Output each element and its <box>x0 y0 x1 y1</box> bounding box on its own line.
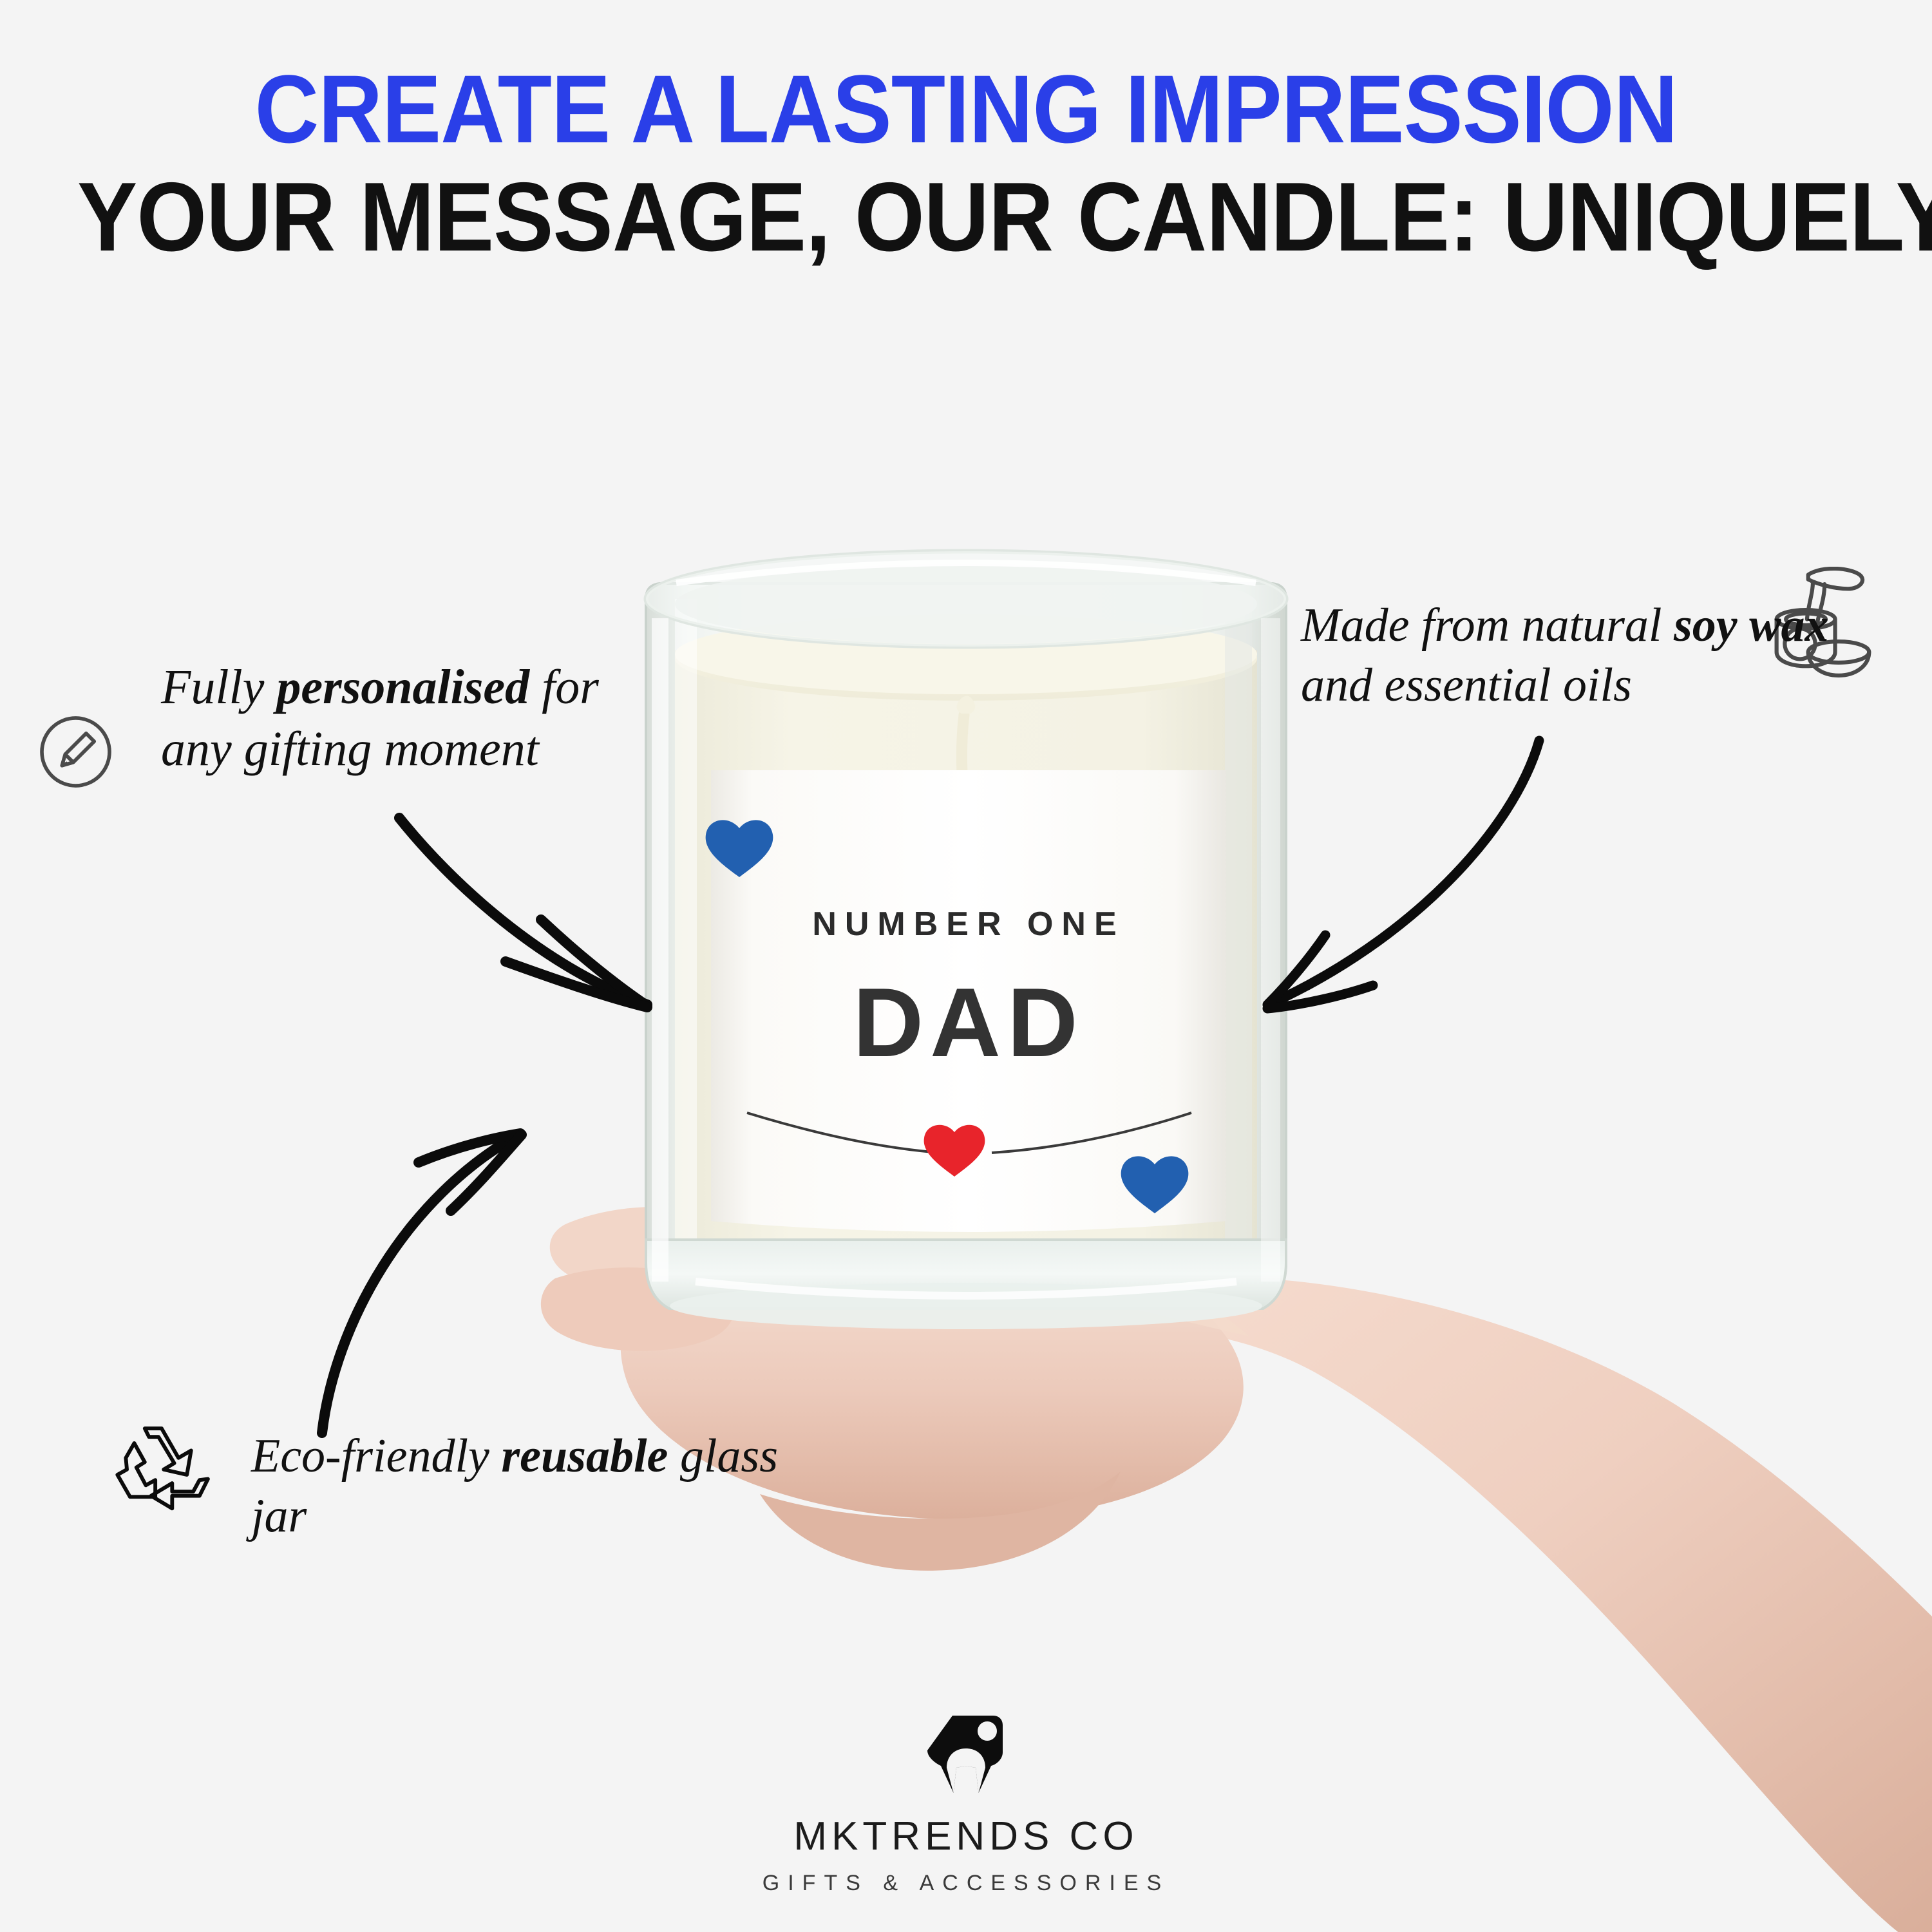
callout-personalised-lead: Fully <box>161 660 276 714</box>
poster-canvas: CREATE A LASTING IMPRESSION YOUR MESSAGE… <box>0 0 1932 1932</box>
label-top-text: NUMBER ONE <box>812 905 1124 943</box>
callout-personalised-emphasis: personalised <box>276 660 529 714</box>
callout-soy-wax-lead: Made from natural <box>1301 599 1674 652</box>
brand-footer: MKTRENDS CO GIFTS & ACCESSORIES <box>0 1710 1932 1896</box>
callout-eco-glass-lead: Eco-friendly <box>251 1430 501 1482</box>
callout-eco-glass: Eco-friendly reusable glass jar <box>251 1426 805 1546</box>
callout-soy-wax-text: Made from natural soy wax and essential … <box>1301 596 1900 715</box>
price-tag-icon <box>918 1710 1014 1797</box>
callout-personalised: Fully personalised for any gifting momen… <box>161 657 638 781</box>
callout-eco-glass-text: Eco-friendly reusable glass jar <box>251 1426 805 1546</box>
label-main-text: DAD <box>853 968 1084 1077</box>
callout-personalised-text: Fully personalised for any gifting momen… <box>161 657 638 781</box>
callout-soy-wax-rest: and essential oils <box>1301 659 1632 712</box>
callout-soy-wax-emphasis: soy wax <box>1674 599 1829 652</box>
brand-name: MKTRENDS CO <box>0 1814 1932 1859</box>
product-photo: NUMBER ONE DAD <box>0 0 1932 1932</box>
pencil-circle-icon <box>35 712 116 792</box>
recycle-icon <box>113 1420 219 1529</box>
candle-label: NUMBER ONE DAD <box>706 770 1226 1232</box>
callout-soy-wax: Made from natural soy wax and essential … <box>1301 596 1900 715</box>
callout-eco-glass-emphasis: reusable <box>501 1430 668 1482</box>
brand-tagline: GIFTS & ACCESSORIES <box>0 1871 1932 1896</box>
